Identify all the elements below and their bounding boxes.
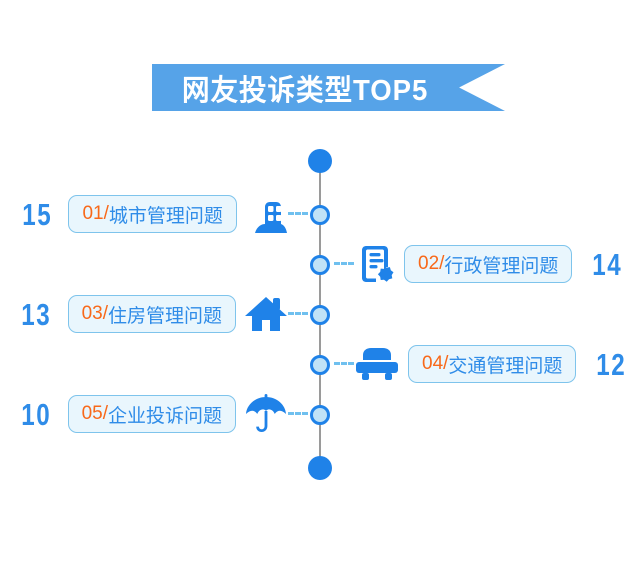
page-title: 网友投诉类型TOP5 (182, 67, 428, 109)
rank-number-5: 10 (21, 399, 51, 430)
timeline-node-1[interactable] (310, 205, 330, 225)
timeline-node-5[interactable] (310, 405, 330, 425)
connector-4 (334, 362, 354, 365)
list-item-5[interactable]: 10 05/ 企业投诉问题 (18, 392, 288, 436)
pill-index-1: 01/ (82, 203, 108, 225)
pill-label-2: 行政管理问题 (444, 251, 558, 278)
timeline-node-4[interactable] (310, 355, 330, 375)
pill-label-4: 交通管理问题 (448, 351, 562, 378)
pill-index-3: 03/ (82, 303, 108, 325)
rank-number-3: 13 (21, 299, 51, 330)
pill-label-1: 城市管理问题 (109, 201, 223, 228)
house-icon (244, 291, 288, 337)
pill-index-4: 04/ (422, 353, 448, 375)
list-item-1[interactable]: 15 01/ 城市管理问题 (18, 192, 288, 236)
rank-number-1: 15 (22, 199, 52, 230)
connector-2 (334, 262, 354, 265)
connector-1 (288, 212, 308, 215)
category-pill-2[interactable]: 02/ 行政管理问题 (404, 245, 572, 283)
pill-index-2: 02/ (418, 253, 444, 275)
timeline-cap-dot-bottom (308, 456, 332, 480)
rank-number-4: 12 (597, 349, 627, 380)
category-pill-4[interactable]: 04/ 交通管理问题 (408, 345, 576, 383)
category-pill-1[interactable]: 01/ 城市管理问题 (68, 195, 236, 233)
document-seal-icon (354, 241, 396, 287)
list-item-4[interactable]: 04/ 交通管理问题 12 (354, 342, 622, 386)
category-pill-5[interactable]: 05/ 企业投诉问题 (68, 395, 236, 433)
pill-label-3: 住房管理问题 (108, 301, 222, 328)
list-item-3[interactable]: 13 03/ 住房管理问题 (18, 292, 288, 336)
connector-3 (288, 312, 308, 315)
bus-icon (354, 341, 400, 387)
pill-index-5: 05/ (82, 403, 108, 425)
title-banner: 网友投诉类型TOP5 (152, 64, 505, 111)
category-pill-3[interactable]: 03/ 住房管理问题 (68, 295, 236, 333)
timeline-node-3[interactable] (310, 305, 330, 325)
building-icon (245, 191, 288, 237)
umbrella-icon (244, 391, 288, 437)
rank-number-2: 14 (593, 249, 623, 280)
timeline-node-2[interactable] (310, 255, 330, 275)
pill-label-5: 企业投诉问题 (108, 401, 222, 428)
timeline-cap-dot-top (308, 149, 332, 173)
list-item-2[interactable]: 02/ 行政管理问题 14 (354, 242, 622, 286)
connector-5 (288, 412, 308, 415)
